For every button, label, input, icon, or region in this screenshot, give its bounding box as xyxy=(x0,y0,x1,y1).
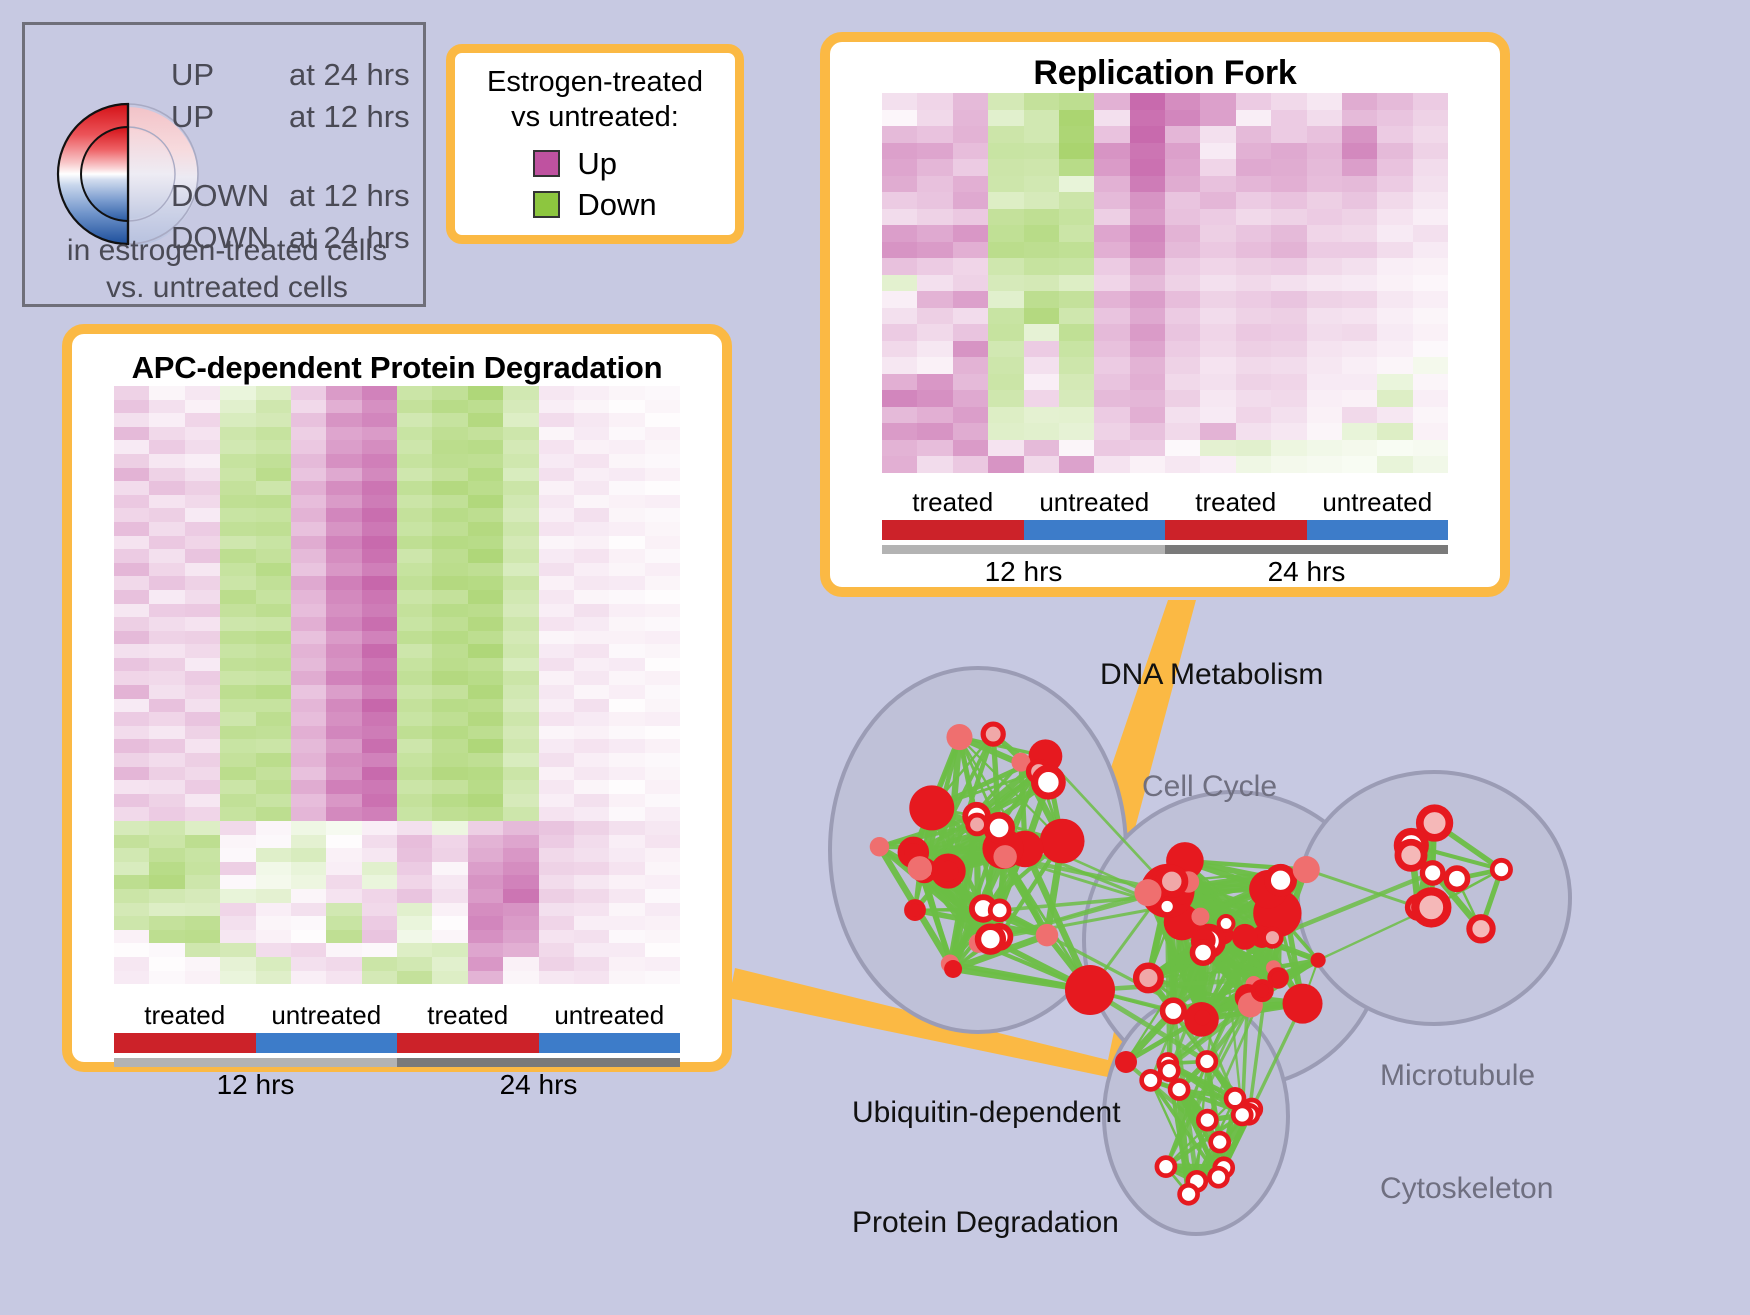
colormap-legend: UP at 24 hrs UP at 12 hrs DOWN at 12 hrs… xyxy=(22,22,426,307)
heatmap-cell xyxy=(539,440,574,454)
time-color-bar-replication-fork xyxy=(882,545,1448,554)
heatmap-cell xyxy=(1271,176,1306,193)
heatmap-cell xyxy=(1307,176,1342,193)
heatmap-cell xyxy=(220,835,255,849)
group-label: treated xyxy=(1165,487,1307,518)
heatmap-cell xyxy=(539,481,574,495)
heatmap-cell xyxy=(574,481,609,495)
heatmap-cell xyxy=(953,159,988,176)
heatmap-cell xyxy=(468,753,503,767)
heatmap-cell xyxy=(645,712,680,726)
heatmap-cell xyxy=(1094,126,1129,143)
heatmap-cell xyxy=(432,631,467,645)
network-node xyxy=(1232,924,1258,950)
heatmap-cell xyxy=(1377,143,1412,160)
heatmap-cell xyxy=(397,454,432,468)
heatmap-cell xyxy=(114,916,149,930)
heatmap-cell xyxy=(220,780,255,794)
heatmap-cell xyxy=(220,400,255,414)
heatmap-cell xyxy=(291,712,326,726)
heatmap-cell xyxy=(1094,374,1129,391)
heatmap-cell xyxy=(1271,291,1306,308)
heatmap-cell xyxy=(1271,225,1306,242)
cluster-label-microtubule: Microtubule Cytoskeleton xyxy=(1380,982,1553,1282)
heatmap-cell xyxy=(953,407,988,424)
panel-title-apc: APC-dependent Protein Degradation xyxy=(72,350,722,386)
heatmap-cell xyxy=(291,386,326,400)
heatmap-cell xyxy=(645,685,680,699)
heatmap-cell xyxy=(1236,93,1271,110)
heatmap-cell xyxy=(1377,192,1412,209)
heatmap-cell xyxy=(645,454,680,468)
heatmap-cell xyxy=(574,427,609,441)
heatmap-cell xyxy=(609,699,644,713)
heatmap-cell xyxy=(362,794,397,808)
heatmap-cell xyxy=(362,658,397,672)
heatmap-cell xyxy=(432,576,467,590)
heatmap-cell xyxy=(185,590,220,604)
heatmap-cell xyxy=(185,454,220,468)
heatmap-cell xyxy=(326,835,361,849)
heatmap-cell xyxy=(609,563,644,577)
heatmap-cell xyxy=(645,440,680,454)
heatmap-cell xyxy=(988,93,1023,110)
heatmap-cell xyxy=(503,590,538,604)
heatmap-cell xyxy=(1377,423,1412,440)
updown-legend-title: Estrogen-treated vs untreated: xyxy=(487,65,703,133)
network-node xyxy=(946,724,972,750)
heatmap-cell xyxy=(256,862,291,876)
heatmap-cell xyxy=(1024,390,1059,407)
heatmap-cell xyxy=(1377,291,1412,308)
network-node xyxy=(1142,1071,1160,1089)
heatmap-cell xyxy=(256,780,291,794)
heatmap-cell xyxy=(149,644,184,658)
heatmap-cell xyxy=(149,712,184,726)
heatmap-cell xyxy=(362,957,397,971)
heatmap-cell xyxy=(220,794,255,808)
heatmap-cell xyxy=(645,427,680,441)
heatmap-cell xyxy=(1200,192,1235,209)
heatmap-cell xyxy=(185,957,220,971)
heatmap-cell xyxy=(539,930,574,944)
heatmap-cell xyxy=(326,658,361,672)
heatmap-cell xyxy=(362,753,397,767)
heatmap-cell xyxy=(326,386,361,400)
heatmap-cell xyxy=(1094,110,1129,127)
heatmap-cell xyxy=(362,522,397,536)
heatmap-cell xyxy=(149,699,184,713)
heatmap-cell xyxy=(609,413,644,427)
heatmap-cell xyxy=(645,604,680,618)
heatmap-cell xyxy=(291,549,326,563)
heatmap-cell xyxy=(1413,242,1448,259)
heatmap-cell xyxy=(1165,357,1200,374)
heatmap-cell xyxy=(256,807,291,821)
heatmap-cell xyxy=(397,522,432,536)
heatmap-cell xyxy=(1413,192,1448,209)
heatmap-cell xyxy=(185,617,220,631)
heatmap-cell xyxy=(1377,407,1412,424)
heatmap-cell xyxy=(609,468,644,482)
heatmap-cell xyxy=(882,357,917,374)
heatmap-cell xyxy=(362,712,397,726)
heatmap-cell xyxy=(291,413,326,427)
heatmap-cell xyxy=(220,508,255,522)
heatmap-cell xyxy=(1165,308,1200,325)
heatmap-cell xyxy=(114,576,149,590)
heatmap-cell xyxy=(539,454,574,468)
heatmap-cell xyxy=(397,536,432,550)
heatmap-cell xyxy=(468,807,503,821)
heatmap-cell xyxy=(1200,209,1235,226)
heatmap-cell xyxy=(397,889,432,903)
time-label: 12 hrs xyxy=(882,556,1165,588)
treatment-segment xyxy=(114,1033,256,1053)
heatmap-cell xyxy=(1094,341,1129,358)
heatmap-cell xyxy=(1342,242,1377,259)
heatmap-cell xyxy=(397,386,432,400)
heatmap-cell xyxy=(503,848,538,862)
heatmap-cell xyxy=(220,753,255,767)
heatmap-cell xyxy=(220,671,255,685)
heatmap-cell xyxy=(149,576,184,590)
colormap-row-key: UP xyxy=(171,59,289,90)
heatmap-cell xyxy=(397,726,432,740)
heatmap-cell xyxy=(882,192,917,209)
heatmap-cell xyxy=(1024,374,1059,391)
heatmap-cell xyxy=(149,522,184,536)
heatmap-cell xyxy=(149,617,184,631)
heatmap-cell xyxy=(1059,225,1094,242)
group-label: untreated xyxy=(1024,487,1166,518)
heatmap-cell xyxy=(503,943,538,957)
heatmap-cell xyxy=(220,481,255,495)
heatmap-cell xyxy=(220,563,255,577)
heatmap-cell xyxy=(574,590,609,604)
treatment-segment xyxy=(1165,520,1307,540)
heatmap-cell xyxy=(1271,192,1306,209)
heatmap-cell xyxy=(326,848,361,862)
heatmap-cell xyxy=(432,943,467,957)
heatmap-cell xyxy=(291,671,326,685)
heatmap-cell xyxy=(432,481,467,495)
heatmap-cell xyxy=(1413,440,1448,457)
heatmap-cell xyxy=(609,576,644,590)
heatmap-cell xyxy=(988,242,1023,259)
heatmap-cell xyxy=(1165,258,1200,275)
heatmap-cell xyxy=(1094,159,1129,176)
heatmap-cell xyxy=(114,726,149,740)
heatmap-cell xyxy=(185,413,220,427)
heatmap-cell xyxy=(1236,308,1271,325)
updown-title-line-2: vs untreated: xyxy=(487,100,703,134)
heatmap-cell xyxy=(291,522,326,536)
group-label: treated xyxy=(882,487,1024,518)
heatmap-cell xyxy=(291,400,326,414)
heatmap-cell xyxy=(149,835,184,849)
heatmap-cell xyxy=(539,903,574,917)
group-labels-replication-fork: treated untreated treated untreated xyxy=(882,487,1448,518)
heatmap-cell xyxy=(397,508,432,522)
heatmap-cell xyxy=(609,644,644,658)
heatmap-cell xyxy=(291,644,326,658)
heatmap-cell xyxy=(1165,93,1200,110)
heatmap-cell xyxy=(291,427,326,441)
heatmap-cell xyxy=(503,413,538,427)
heatmap-cell xyxy=(1413,341,1448,358)
heatmap-cell xyxy=(609,685,644,699)
heatmap-cell xyxy=(1165,291,1200,308)
heatmap-cell xyxy=(1307,258,1342,275)
heatmap-cell xyxy=(1024,258,1059,275)
heatmap-cell xyxy=(609,835,644,849)
network-node xyxy=(1209,1168,1227,1186)
network-node xyxy=(1226,1089,1244,1107)
legend-item-up: Up xyxy=(533,146,656,182)
heatmap-cell xyxy=(1271,440,1306,457)
heatmap-cell xyxy=(574,440,609,454)
heatmap-cell xyxy=(1307,357,1342,374)
heatmap-cell xyxy=(988,110,1023,127)
heatmap-cell xyxy=(574,495,609,509)
heatmap-cell xyxy=(1307,407,1342,424)
heatmap-cell xyxy=(326,440,361,454)
heatmap-cell xyxy=(988,440,1023,457)
heatmap-cell xyxy=(574,671,609,685)
heatmap-cell xyxy=(149,971,184,985)
group-label: untreated xyxy=(256,1000,398,1031)
heatmap-cell xyxy=(1094,456,1129,473)
heatmap-cell xyxy=(1377,308,1412,325)
heatmap-cell xyxy=(326,780,361,794)
heatmap-cell xyxy=(397,590,432,604)
heatmap-cell xyxy=(397,671,432,685)
heatmap-cell xyxy=(468,875,503,889)
heatmap-cell xyxy=(114,658,149,672)
heatmap-cell xyxy=(1130,390,1165,407)
heatmap-cell xyxy=(917,242,952,259)
heatmap-cell xyxy=(185,807,220,821)
heatmap-cell xyxy=(574,631,609,645)
network-node xyxy=(1160,1062,1178,1080)
heatmap-cell xyxy=(468,508,503,522)
heatmap-cell xyxy=(1130,407,1165,424)
heatmap-cell xyxy=(149,875,184,889)
heatmap-cell xyxy=(1024,291,1059,308)
heatmap-cell xyxy=(397,943,432,957)
panel-title-replication-fork: Replication Fork xyxy=(830,54,1500,93)
heatmap-cell xyxy=(1236,374,1271,391)
heatmap-cell xyxy=(1307,423,1342,440)
heatmap-cell xyxy=(1059,440,1094,457)
heatmap-cell xyxy=(326,807,361,821)
heatmap-cell xyxy=(953,258,988,275)
heatmap-cell xyxy=(574,563,609,577)
heatmap-cell xyxy=(362,563,397,577)
heatmap-cell xyxy=(1271,242,1306,259)
heatmap-cell xyxy=(609,454,644,468)
heatmap-cell xyxy=(1236,324,1271,341)
heatmap-cell xyxy=(609,617,644,631)
heatmap-cell xyxy=(432,916,467,930)
heatmap-cell xyxy=(1165,242,1200,259)
heatmap-cell xyxy=(574,862,609,876)
heatmap-cell xyxy=(953,126,988,143)
heatmap-cell xyxy=(256,821,291,835)
heatmap-cell xyxy=(220,522,255,536)
heatmap-cell xyxy=(953,110,988,127)
heatmap-cell xyxy=(609,903,644,917)
heatmap-cell xyxy=(220,739,255,753)
heatmap-cell xyxy=(1413,275,1448,292)
heatmap-cell xyxy=(256,549,291,563)
heatmap-cell xyxy=(1059,374,1094,391)
heatmap-cell xyxy=(114,536,149,550)
heatmap-cell xyxy=(114,835,149,849)
heatmap-cell xyxy=(256,930,291,944)
heatmap-cell xyxy=(1165,374,1200,391)
heatmap-cell xyxy=(1059,93,1094,110)
heatmap-cell xyxy=(539,848,574,862)
heatmap-cell xyxy=(645,563,680,577)
heatmap-cell xyxy=(256,427,291,441)
heatmap-cell xyxy=(432,712,467,726)
heatmap-cell xyxy=(988,324,1023,341)
up-label: Up xyxy=(577,146,617,182)
heatmap-cell xyxy=(1094,440,1129,457)
heatmap-cell xyxy=(574,916,609,930)
heatmap-cell xyxy=(468,400,503,414)
heatmap-cell xyxy=(220,821,255,835)
heatmap-cell xyxy=(609,508,644,522)
heatmap-cell xyxy=(1271,275,1306,292)
heatmap-cell xyxy=(1200,275,1235,292)
heatmap-cell xyxy=(539,495,574,509)
network-node xyxy=(1264,929,1282,947)
heatmap-cell xyxy=(397,835,432,849)
heatmap-cell xyxy=(468,712,503,726)
heatmap-cell xyxy=(185,794,220,808)
heatmap-cell xyxy=(1165,225,1200,242)
heatmap-cell xyxy=(645,807,680,821)
heatmap-cell xyxy=(1094,225,1129,242)
heatmap-cell xyxy=(432,563,467,577)
heatmap-cell xyxy=(291,617,326,631)
heatmap-cell xyxy=(291,848,326,862)
heatmap-cell xyxy=(1024,159,1059,176)
heatmap-cell xyxy=(917,308,952,325)
heatmap-cell xyxy=(149,903,184,917)
network-node xyxy=(1268,867,1294,893)
heatmap-cell xyxy=(574,604,609,618)
heatmap-cell xyxy=(1377,258,1412,275)
heatmap-cell xyxy=(114,481,149,495)
heatmap-cell xyxy=(256,957,291,971)
heatmap-cell xyxy=(1342,357,1377,374)
heatmap-cell xyxy=(953,225,988,242)
heatmap-cell xyxy=(503,495,538,509)
heatmap-cell xyxy=(574,726,609,740)
heatmap-cell xyxy=(503,481,538,495)
heatmap-cell xyxy=(149,794,184,808)
heatmap-cell xyxy=(362,807,397,821)
microtubule-line-2: Cytoskeleton xyxy=(1380,1170,1553,1208)
heatmap-cell xyxy=(185,604,220,618)
heatmap-cell xyxy=(1165,324,1200,341)
heatmap-cell xyxy=(114,875,149,889)
panel-apc-dependent-protein-degradation: APC-dependent Protein Degradation treate… xyxy=(62,324,732,1072)
heatmap-cell xyxy=(362,468,397,482)
heatmap-cell xyxy=(432,386,467,400)
group-labels-apc: treated untreated treated untreated xyxy=(114,1000,680,1031)
network-node xyxy=(1136,966,1161,991)
heatmap-cell xyxy=(1130,341,1165,358)
heatmap-cell xyxy=(468,767,503,781)
heatmap-cell xyxy=(988,374,1023,391)
heatmap-cell xyxy=(149,767,184,781)
heatmap-cell xyxy=(1024,275,1059,292)
heatmap-cell xyxy=(574,943,609,957)
heatmap-cell xyxy=(114,671,149,685)
heatmap-cell xyxy=(882,407,917,424)
heatmap-cell xyxy=(362,427,397,441)
heatmap-cell xyxy=(1307,192,1342,209)
heatmap-cell xyxy=(539,943,574,957)
heatmap-cell xyxy=(149,753,184,767)
heatmap-cell xyxy=(291,794,326,808)
heatmap-cell xyxy=(114,427,149,441)
heatmap-cell xyxy=(149,658,184,672)
heatmap-cell xyxy=(185,508,220,522)
heatmap-cell xyxy=(988,143,1023,160)
heatmap-cell xyxy=(185,658,220,672)
heatmap-cell xyxy=(1165,192,1200,209)
heatmap-cell xyxy=(1377,341,1412,358)
heatmap-cell xyxy=(185,916,220,930)
network-node xyxy=(1163,1000,1185,1022)
heatmap-cell xyxy=(1200,341,1235,358)
heatmap-cell xyxy=(185,903,220,917)
heatmap-cell xyxy=(882,159,917,176)
heatmap-cell xyxy=(988,390,1023,407)
heatmap-cell xyxy=(503,454,538,468)
heatmap-cell xyxy=(953,456,988,473)
heatmap-cell xyxy=(432,780,467,794)
heatmap-cell xyxy=(645,821,680,835)
heatmap-cell xyxy=(1024,126,1059,143)
heatmap-cell xyxy=(917,423,952,440)
heatmap-cell xyxy=(539,807,574,821)
heatmap-cell xyxy=(1271,407,1306,424)
heatmap-cell xyxy=(1413,390,1448,407)
heatmap-cell xyxy=(256,495,291,509)
heatmap-cell xyxy=(362,481,397,495)
network-node xyxy=(1469,917,1492,940)
heatmap-cell xyxy=(1024,456,1059,473)
heatmap-cell xyxy=(397,971,432,985)
heatmap-cell xyxy=(468,957,503,971)
heatmap-cell xyxy=(362,699,397,713)
heatmap-cell xyxy=(1059,258,1094,275)
time-labels-replication-fork: 12 hrs 24 hrs xyxy=(882,556,1448,588)
heatmap-cell xyxy=(988,308,1023,325)
heatmap-cell xyxy=(149,536,184,550)
heatmap-cell xyxy=(609,481,644,495)
heatmap-cell xyxy=(574,712,609,726)
heatmap-cell xyxy=(362,780,397,794)
heatmap-cell xyxy=(291,903,326,917)
